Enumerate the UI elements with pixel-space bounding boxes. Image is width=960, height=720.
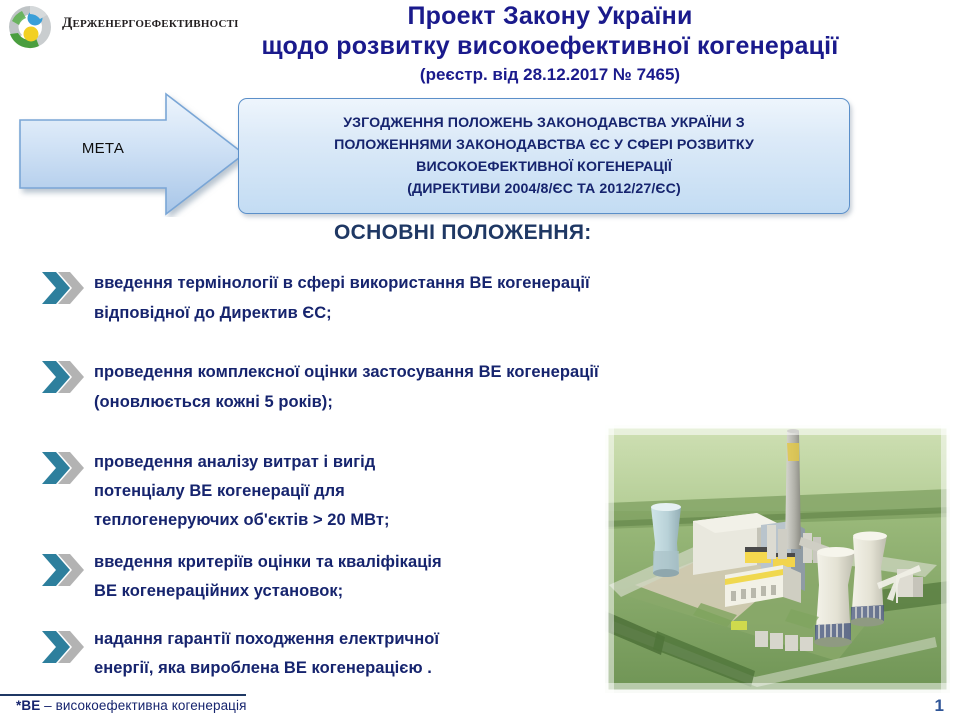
goal-statement-text: УЗГОДЖЕННЯ ПОЛОЖЕНЬ ЗАКОНОДАВСТВА УКРАЇН… bbox=[334, 112, 754, 200]
list-item: введення термінології в сфері використан… bbox=[40, 268, 590, 328]
meta-arrow-label: МЕТА bbox=[18, 140, 188, 157]
cogeneration-power-plant-photo bbox=[605, 425, 950, 693]
title-line-2: щодо розвитку високоефективної когенерац… bbox=[150, 31, 950, 62]
list-item: надання гарантії походження електричної … bbox=[40, 625, 439, 683]
list-item-text: проведення комплексної оцінки застосуван… bbox=[94, 357, 599, 417]
goal-line-2: ПОЛОЖЕННЯМИ ЗАКОНОДАВСТВА ЄС У СФЕРІ РОЗ… bbox=[334, 134, 754, 156]
double-chevron-icon bbox=[40, 448, 86, 488]
footnote: *ВЕ – високоефективна когенерація bbox=[16, 698, 247, 713]
list-item: введення критеріїв оцінки та кваліфікаці… bbox=[40, 548, 442, 606]
list-item-text: введення термінології в сфері використан… bbox=[94, 268, 590, 328]
list-item: проведення комплексної оцінки застосуван… bbox=[40, 357, 599, 417]
derzhenergoefektyvnosti-logo-icon bbox=[6, 4, 54, 50]
title-line-1: Проект Закону України bbox=[150, 2, 950, 31]
list-item-text: введення критеріїв оцінки та кваліфікаці… bbox=[94, 548, 442, 606]
goal-line-3: ВИСОКОЕФЕКТИВНОЇ КОГЕНЕРАЦІЇ bbox=[334, 156, 754, 178]
slide-title: Проект Закону України щодо розвитку висо… bbox=[150, 2, 950, 87]
page-number: 1 bbox=[935, 696, 944, 716]
double-chevron-icon bbox=[40, 268, 86, 308]
goal-line-1: УЗГОДЖЕННЯ ПОЛОЖЕНЬ ЗАКОНОДАВСТВА УКРАЇН… bbox=[334, 112, 754, 134]
list-item-text: надання гарантії походження електричної … bbox=[94, 625, 439, 683]
list-item: проведення аналізу витрат і вигід потенц… bbox=[40, 448, 390, 535]
double-chevron-icon bbox=[40, 627, 86, 667]
footnote-marker: *ВЕ bbox=[16, 698, 40, 713]
goal-statement-box: УЗГОДЖЕННЯ ПОЛОЖЕНЬ ЗАКОНОДАВСТВА УКРАЇН… bbox=[238, 98, 850, 214]
footnote-text: – високоефективна когенерація bbox=[40, 698, 246, 713]
double-chevron-icon bbox=[40, 357, 86, 397]
list-item-text: проведення аналізу витрат і вигід потенц… bbox=[94, 448, 390, 535]
footer-divider bbox=[0, 694, 246, 696]
double-chevron-icon bbox=[40, 550, 86, 590]
goal-line-4: (ДИРЕКТИВИ 2004/8/ЄС ТА 2012/27/ЄС) bbox=[334, 178, 754, 200]
title-registration-number: (реєстр. від 28.12.2017 № 7465) bbox=[150, 63, 950, 87]
slide-canvas: Держенергоефективності Проект Закону Укр… bbox=[0, 0, 960, 720]
section-heading: ОСНОВНІ ПОЛОЖЕННЯ: bbox=[334, 221, 592, 245]
